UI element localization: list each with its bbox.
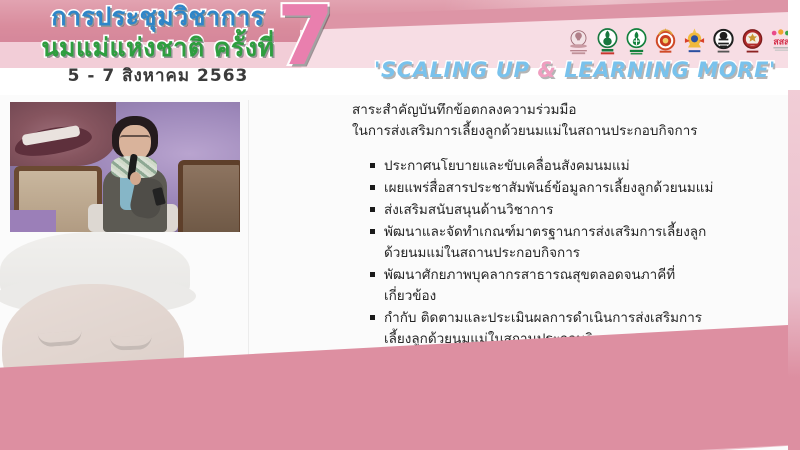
university-seal-logo xyxy=(740,27,765,56)
bullet-text-line1: ส่งเสริมสนับสนุนด้านวิชาการ xyxy=(384,202,553,218)
speaker-glasses xyxy=(120,135,150,144)
royal-emblem-logo xyxy=(566,27,591,56)
list-item: ส่งเสริมสนับสนุนด้านวิชาการ xyxy=(370,200,782,221)
chair-right xyxy=(178,160,240,232)
conference-edition-number: 7 xyxy=(277,0,334,78)
garuda-emblem-logo xyxy=(682,27,707,56)
conference-title-line1: การประชุมวิชาการ xyxy=(18,2,298,32)
conference-date: 5 - 7 สิงหาคม 2563 xyxy=(18,65,298,87)
list-item: พัฒนาศักยภาพบุคลากรสาธารณสุขตลอดจนภาคีที… xyxy=(370,265,782,307)
department-health-logo xyxy=(624,27,649,56)
speaker-video-thumbnail[interactable] xyxy=(10,102,240,232)
lead-line-1: สาระสำคัญบันทึกข้อตกลงความร่วมมือ xyxy=(352,100,782,121)
conference-title-line2: นมแม่แห่งชาติ ครั้งที่ xyxy=(18,32,298,63)
list-item: เผยแพร่สื่อสารประชาสัมพันธ์ข้อมูลการเลี้… xyxy=(370,178,782,199)
bullet-list: ประกาศนโยบายและขับเคลื่อนสังคมนมแม่ เผยแ… xyxy=(370,156,782,350)
lead-line-2: ในการส่งเสริมการเลี้ยงลูกด้วยนมแม่ในสถาน… xyxy=(352,121,782,142)
lead-paragraph: สาระสำคัญบันทึกข้อตกลงความร่วมมือ ในการส… xyxy=(352,100,782,142)
bullet-text-line1: เผยแพร่สื่อสารประชาสัมพันธ์ข้อมูลการเลี้… xyxy=(384,180,713,196)
conference-tagline: 'SCALING UP & LEARNING MORE' xyxy=(360,58,790,82)
bullet-text-line1: พัฒนาและจัดทำเกณฑ์มาตรฐานการส่งเสริมการเ… xyxy=(384,224,706,240)
tagline-part-2: LEARNING MORE' xyxy=(556,58,776,82)
tagline-ampersand: & xyxy=(537,58,556,82)
speaker-hand xyxy=(130,172,141,185)
right-edge-strip xyxy=(788,88,800,450)
sponsor-logo-row: สสส xyxy=(566,24,794,58)
bullet-text-line2: เกี่ยวข้อง xyxy=(384,286,782,307)
bullet-text-line1: กำกับ ติดตามและประเมินผลการดำเนินการส่งเ… xyxy=(384,310,702,326)
bullet-text-line1: ประกาศนโยบายและขับเคลื่อนสังคมนมแม่ xyxy=(384,158,630,174)
conference-title-block: การประชุมวิชาการ นมแม่แห่งชาติ ครั้งที่ … xyxy=(18,2,298,87)
presentation-slide: การประชุมวิชาการ นมแม่แห่งชาติ ครั้งที่ … xyxy=(0,0,800,450)
list-item: ประกาศนโยบายและขับเคลื่อนสังคมนมแม่ xyxy=(370,156,782,177)
bullet-text-line2: ด้วยนมแม่ในสถานประกอบกิจการ xyxy=(384,243,782,264)
bullet-text-line1: พัฒนาศักยภาพบุคลากรสาธารณสุขตลอดจนภาคีที… xyxy=(384,267,675,283)
list-item: พัฒนาและจัดทำเกณฑ์มาตรฐานการส่งเสริมการเ… xyxy=(370,222,782,264)
speaker-figure xyxy=(96,116,172,232)
royal-crown-logo xyxy=(653,27,678,56)
unicef-circle-logo xyxy=(711,27,736,56)
stage-floor xyxy=(10,210,56,232)
tagline-part-1: 'SCALING UP xyxy=(374,58,538,82)
ministry-public-health-logo xyxy=(595,27,620,56)
